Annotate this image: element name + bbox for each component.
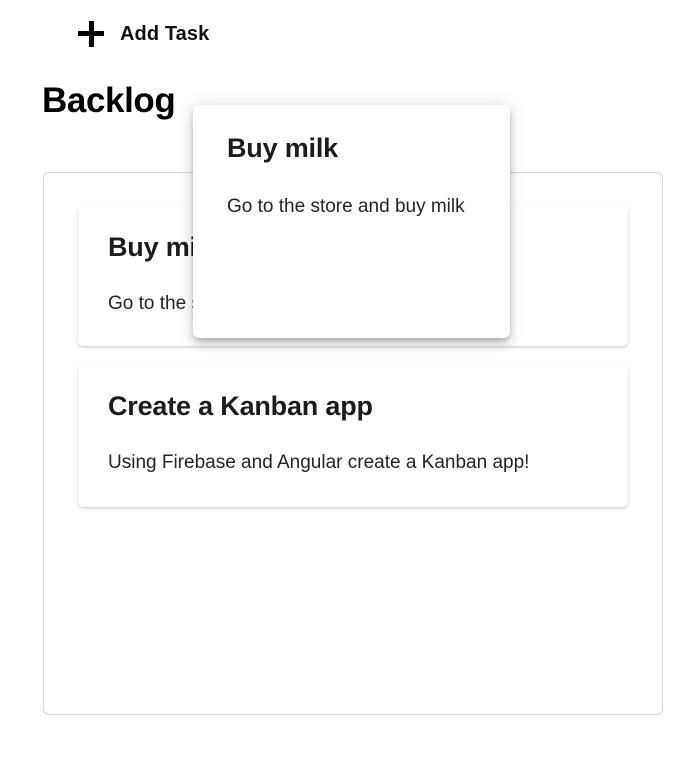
drag-preview-title: Buy milk: [227, 133, 476, 164]
task-card-title: Create a Kanban app: [108, 391, 598, 422]
column-title-backlog: Backlog: [42, 82, 175, 121]
task-card-description: Using Firebase and Angular create a Kanb…: [108, 450, 598, 477]
task-card[interactable]: Create a Kanban app Using Firebase and A…: [78, 365, 628, 507]
plus-icon: [78, 21, 104, 47]
drag-preview-description: Go to the store and buy milk: [227, 194, 476, 221]
drag-preview-card[interactable]: Buy milk Go to the store and buy milk: [193, 105, 510, 338]
toolbar: Add Task: [0, 0, 694, 76]
add-task-button[interactable]: Add Task: [78, 21, 209, 47]
add-task-label: Add Task: [120, 24, 209, 44]
